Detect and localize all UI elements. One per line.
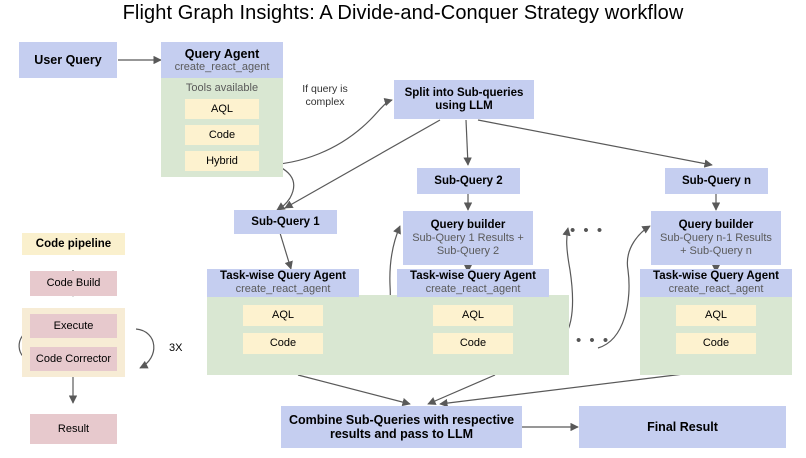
node-code-corrector[interactable]: Code Corrector — [30, 347, 117, 371]
ellipsis-bottom: • • • — [576, 336, 610, 346]
node-sub-query-1-label: Sub-Query 1 — [251, 216, 319, 229]
task-agent-2-tool-code[interactable]: Code — [433, 333, 513, 354]
node-split-into-subqueries[interactable]: Split into Sub-queries using LLM — [394, 80, 534, 119]
page-title: Flight Graph Insights: A Divide-and-Conq… — [0, 2, 806, 25]
card-task-agent-n[interactable]: Task-wise Query Agent create_react_agent… — [640, 269, 792, 375]
task-agent-n-tools-panel: AQL Code — [640, 297, 792, 375]
code-pipeline-header: Code pipeline — [22, 233, 125, 255]
split-line-2: using LLM — [435, 100, 493, 113]
node-sub-query-1[interactable]: Sub-Query 1 — [234, 210, 337, 234]
if-query-line-2: complex — [290, 96, 360, 109]
query-agent-tools-panel: Tools available AQL Code Hybrid — [161, 78, 283, 177]
task-agent-1-tool-code-label: Code — [270, 337, 296, 350]
node-result-label: Result — [58, 423, 89, 436]
query-agent-header: Query Agent create_react_agent — [161, 42, 283, 78]
query-agent-subtitle: create_react_agent — [175, 61, 270, 74]
node-execute[interactable]: Execute — [30, 314, 117, 338]
task-agent-1-tool-code[interactable]: Code — [243, 333, 323, 354]
task-agent-n-subtitle: create_react_agent — [669, 283, 764, 296]
node-user-query[interactable]: User Query — [19, 42, 117, 78]
node-query-builder-2[interactable]: Query builder Sub-Query 1 Results + Sub-… — [403, 211, 533, 265]
node-sub-query-2-label: Sub-Query 2 — [434, 175, 502, 188]
tool-chip-code[interactable]: Code — [185, 125, 259, 145]
loop-count-label: 3X — [169, 342, 182, 355]
query-builder-n-line-1: Sub-Query n-1 Results — [660, 232, 772, 245]
task-agent-1-subtitle: create_react_agent — [236, 283, 331, 296]
task-agent-n-tool-code[interactable]: Code — [676, 333, 756, 354]
node-code-corrector-label: Code Corrector — [36, 353, 111, 366]
tool-chip-hybrid-label: Hybrid — [206, 155, 238, 168]
query-builder-2-line-1: Sub-Query 1 Results + — [412, 232, 524, 245]
task-agent-2-title: Task-wise Query Agent — [410, 270, 536, 283]
task-agent-1-tool-aql-label: AQL — [272, 309, 294, 322]
if-query-line-1: If query is — [290, 83, 360, 96]
query-builder-n-title: Query builder — [679, 219, 754, 232]
query-builder-2-line-2: Sub-Query 2 — [437, 245, 499, 258]
tool-chip-aql-label: AQL — [211, 103, 233, 116]
task-agent-1-title: Task-wise Query Agent — [220, 270, 346, 283]
tool-chip-hybrid[interactable]: Hybrid — [185, 151, 259, 171]
task-agent-1-tool-aql[interactable]: AQL — [243, 305, 323, 326]
combine-line-1: Combine Sub-Queries with respective — [289, 413, 514, 427]
ellipsis-top: • • • — [570, 226, 604, 236]
query-agent-title: Query Agent — [185, 47, 260, 61]
node-code-build[interactable]: Code Build — [30, 271, 117, 296]
node-execute-label: Execute — [54, 320, 94, 333]
tools-available-label: Tools available — [186, 82, 258, 95]
task-agent-n-title: Task-wise Query Agent — [653, 270, 779, 283]
task-agent-2-tool-aql-label: AQL — [462, 309, 484, 322]
task-agent-2-tool-code-label: Code — [460, 337, 486, 350]
task-agent-1-header: Task-wise Query Agent create_react_agent — [207, 269, 359, 297]
task-agent-1-tools-panel: AQL Code — [207, 297, 359, 375]
node-final-result-label: Final Result — [647, 420, 718, 434]
query-builder-n-line-2: + Sub-Query n — [680, 245, 752, 258]
card-query-agent[interactable]: Query Agent create_react_agent Tools ava… — [161, 42, 283, 177]
tool-chip-aql[interactable]: AQL — [185, 99, 259, 119]
edge-label-if-query-complex: If query is complex — [290, 83, 360, 109]
task-agent-n-tool-aql[interactable]: AQL — [676, 305, 756, 326]
node-user-query-label: User Query — [34, 53, 101, 67]
query-builder-2-title: Query builder — [431, 219, 506, 232]
node-code-build-label: Code Build — [47, 277, 101, 290]
node-sub-query-2[interactable]: Sub-Query 2 — [417, 168, 520, 194]
node-final-result[interactable]: Final Result — [579, 406, 786, 448]
task-agent-n-tool-aql-label: AQL — [705, 309, 727, 322]
task-agent-2-header: Task-wise Query Agent create_react_agent — [397, 269, 549, 297]
node-sub-query-n-label: Sub-Query n — [682, 175, 751, 188]
task-agent-2-tools-panel: AQL Code — [397, 297, 549, 375]
split-line-1: Split into Sub-queries — [405, 87, 524, 100]
diagram-canvas: Flight Graph Insights: A Divide-and-Conq… — [0, 0, 806, 458]
node-query-builder-n[interactable]: Query builder Sub-Query n-1 Results + Su… — [651, 211, 781, 265]
card-task-agent-2[interactable]: Task-wise Query Agent create_react_agent… — [397, 269, 549, 375]
card-task-agent-1[interactable]: Task-wise Query Agent create_react_agent… — [207, 269, 359, 375]
combine-line-2: results and pass to LLM — [330, 427, 473, 441]
node-result[interactable]: Result — [30, 414, 117, 444]
task-agent-n-tool-code-label: Code — [703, 337, 729, 350]
node-sub-query-n[interactable]: Sub-Query n — [665, 168, 768, 194]
task-agent-2-subtitle: create_react_agent — [426, 283, 521, 296]
node-combine-subqueries[interactable]: Combine Sub-Queries with respective resu… — [281, 406, 522, 448]
tool-chip-code-label: Code — [209, 129, 235, 142]
task-agent-2-tool-aql[interactable]: AQL — [433, 305, 513, 326]
task-agent-n-header: Task-wise Query Agent create_react_agent — [640, 269, 792, 297]
code-pipeline-header-label: Code pipeline — [36, 238, 111, 251]
